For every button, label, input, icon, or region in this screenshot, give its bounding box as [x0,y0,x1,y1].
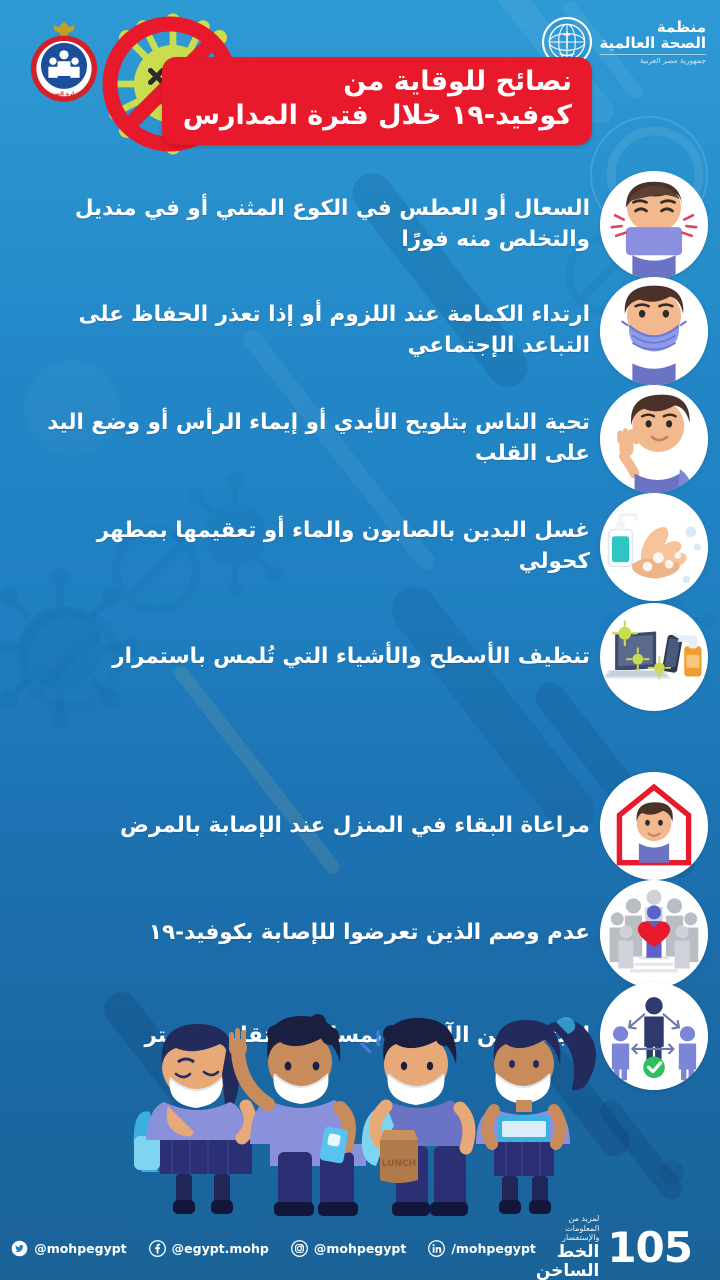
poster-footer: 105 لمزيد من المعلومات والإستفسار الخط ا… [0,1216,720,1280]
infographic-poster: وزارة الصحة [0,0,720,1280]
facebook-icon [149,1240,166,1257]
linkedin-icon [428,1240,445,1257]
social-link-facebook[interactable]: @egypt.mohp [149,1240,269,1257]
who-logo-line2: الصحة العالمية [600,35,706,51]
washing-hands-with-soap-icon [600,493,708,601]
svg-text:وزارة الصحة: وزارة الصحة [47,91,81,97]
social-link-instagram[interactable]: @mohpegypt [291,1240,406,1257]
social-handle-instagram: @mohpegypt [314,1241,406,1256]
social-link-linkedin[interactable]: /mohpegypt [428,1240,536,1257]
twitter-icon [11,1240,28,1257]
tip-item-5: تنظيف الأسطح والأشياء التي تُلمس باستمرا… [0,601,720,713]
poster-title-line-1: نصائح للوقاية من [186,65,572,99]
student-boy-with-lunch-bag: LUNCH [362,1018,469,1216]
tip-text-5: تنظيف الأسطح والأشياء التي تُلمس باستمرا… [30,642,590,673]
tip-item-3: تحية الناس بتلويح الأيدي أو إيماء الرأس … [0,385,720,493]
stay-home-when-sick-icon [600,772,708,880]
tip-item-6: مراعاة البقاء في المنزل عند الإصابة بالم… [0,771,720,881]
boy-sneezing-into-tissue-icon [600,171,708,279]
tip-text-2: ارتداء الكمامة عند اللزوم أو إذا تعذر ال… [30,300,590,361]
tip-text-7: عدم وصم الذين تعرضوا للإصابة بكوفيد-١٩ [30,918,590,949]
social-link-twitter[interactable]: @mohpegypt [11,1240,126,1257]
tip-text-1: السعال أو العطس في الكوع المثني أو في من… [30,194,590,255]
social-handle-linkedin: /mohpegypt [451,1241,536,1256]
no-stigma-crowd-heart-icon [600,880,708,988]
tip-item-1: السعال أو العطس في الكوع المثني أو في من… [0,172,720,277]
svg-text:LUNCH: LUNCH [382,1159,416,1169]
student-girl-with-notebook [476,1017,596,1214]
boy-wearing-face-mask-icon [600,277,708,385]
poster-title-banner: نصائح للوقاية من كوفيد-١٩ خلال فترة المد… [162,57,592,145]
four-masked-school-students-illustration: LUNCH [0,1000,720,1222]
boy-waving-hand-greeting-icon [600,385,708,493]
tip-item-2: ارتداء الكمامة عند اللزوم أو إذا تعذر ال… [0,277,720,385]
social-handle-facebook: @egypt.mohp [172,1241,269,1256]
social-links: @mohpegypt @egypt.mohp @mohpegypt [11,1240,536,1257]
tip-item-7: عدم وصم الذين تعرضوا للإصابة بكوفيد-١٩ [0,881,720,986]
poster-title-line-2: كوفيد-١٩ خلال فترة المدارس [186,99,572,133]
prevention-tips-list: السعال أو العطس في الكوع المثني أو في من… [0,172,720,1086]
hotline-number: 105 [607,1228,692,1268]
tip-item-4: غسل اليدين بالصابون والماء أو تعقيمها بم… [0,493,720,601]
hotline-label: الخط الساخن [536,1243,599,1280]
poster-header: وزارة الصحة [0,0,720,172]
hotline-block: 105 لمزيد من المعلومات والإستفسار الخط ا… [536,1214,692,1280]
tip-text-3: تحية الناس بتلويح الأيدي أو إيماء الرأس … [30,408,590,469]
tip-text-4: غسل اليدين بالصابون والماء أو تعقيمها بم… [30,516,590,577]
social-handle-twitter: @mohpegypt [34,1241,126,1256]
tip-text-6: مراعاة البقاء في المنزل عند الإصابة بالم… [30,811,590,842]
ministry-of-health-egypt-logo: وزارة الصحة [18,18,110,110]
who-logo-line3: جمهورية مصر العربية [600,54,706,65]
disinfecting-laptop-phone-spray-icon [600,603,708,711]
who-logo-line1: منظمة [600,19,706,35]
hotline-caption: لمزيد من المعلومات والإستفسار [536,1214,599,1243]
instagram-icon [291,1240,308,1257]
